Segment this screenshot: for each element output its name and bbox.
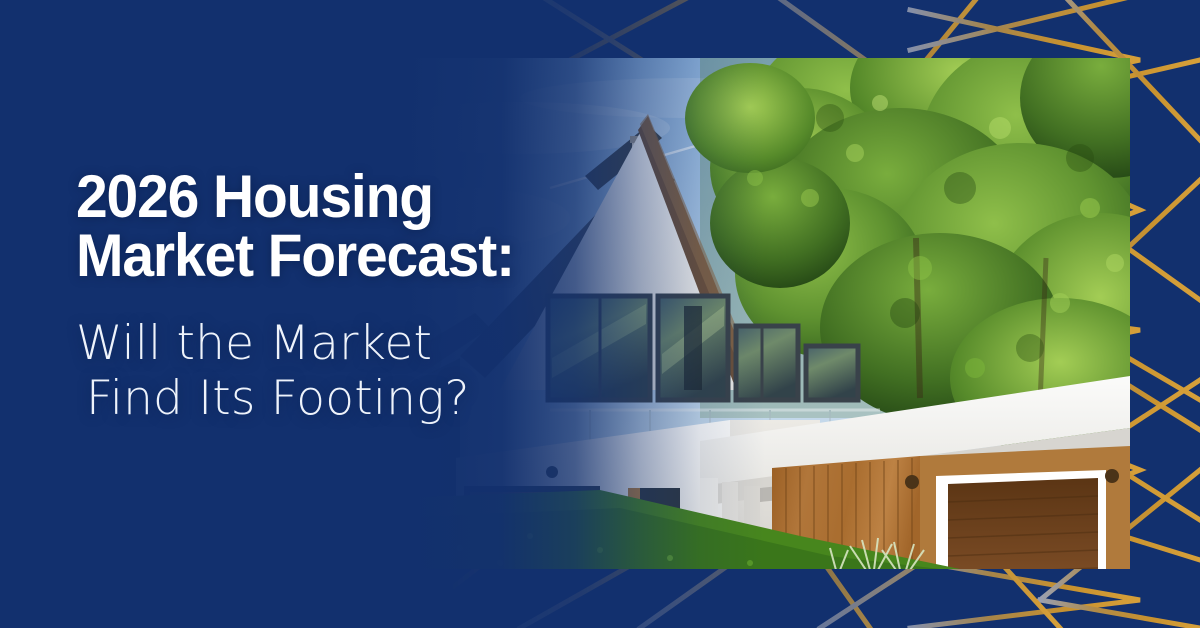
subheadline-line-1: Will the Market — [76, 316, 636, 371]
headline-line-1: 2026 Housing — [76, 168, 608, 227]
copy-block: 2026 Housing Market Forecast: Will the M… — [76, 168, 636, 427]
headline-line-2: Market Forecast: — [76, 227, 608, 286]
social-banner: 2026 Housing Market Forecast: Will the M… — [0, 0, 1200, 628]
headline: 2026 Housing Market Forecast: — [76, 168, 608, 286]
subheadline-line-2: Find Its Footing? — [76, 371, 636, 426]
subheadline: Will the Market Find Its Footing? — [76, 286, 636, 427]
